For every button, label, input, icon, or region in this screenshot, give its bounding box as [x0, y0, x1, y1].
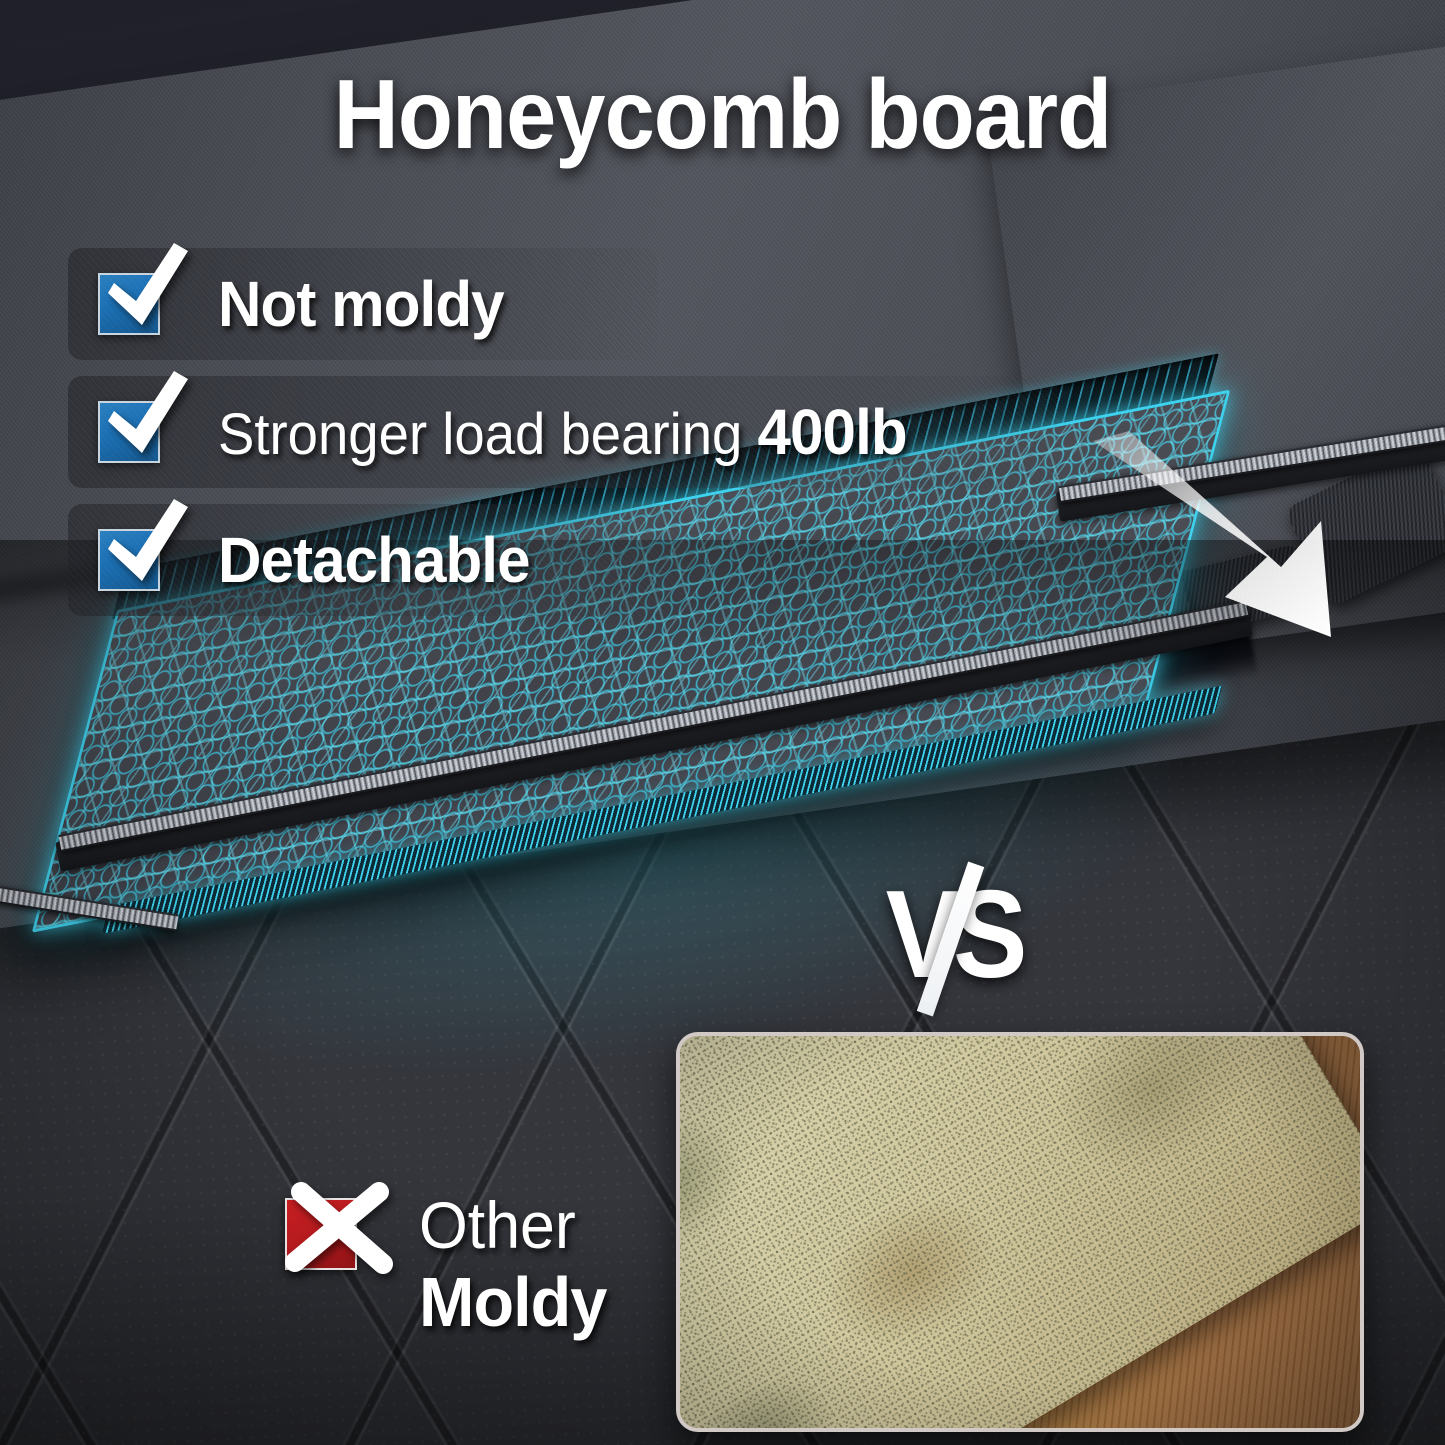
- moldy-board-photo: [676, 1032, 1364, 1432]
- detach-direction-arrow-icon: [1085, 425, 1405, 660]
- negative-text-block: Other Moldy: [419, 1188, 616, 1342]
- feature-row-not-moldy: Not moldy: [68, 248, 658, 360]
- checkbox-checked-icon: [98, 401, 160, 463]
- negative-label-line1: Other: [419, 1188, 606, 1262]
- checkbox-checked-icon: [98, 529, 160, 591]
- cross-icon: [279, 1170, 397, 1288]
- feature-label-load-bearing: Stronger load bearing 400lb: [218, 395, 907, 469]
- feature-label-not-moldy: Not moldy: [218, 267, 504, 341]
- feature-row-detachable: Detachable: [68, 504, 688, 616]
- checkmark-icon: [98, 241, 194, 337]
- feature-row-load-bearing: Stronger load bearing 400lb: [68, 376, 1058, 488]
- negative-label-line2: Moldy: [419, 1262, 606, 1342]
- negative-comparison-label: Other Moldy: [285, 1188, 616, 1342]
- checkbox-checked-icon: [98, 273, 160, 335]
- product-infographic: Honeycomb board Not moldy Stronger load …: [0, 0, 1445, 1445]
- x-mark-icon: [285, 1198, 357, 1270]
- feature-list: Not moldy Stronger load bearing 400lb De…: [68, 248, 1058, 632]
- checkmark-icon: [98, 369, 194, 465]
- feature-label-load-bearing-text: Stronger load bearing: [218, 402, 758, 467]
- checkmark-icon: [98, 497, 194, 593]
- versus-badge: VS: [868, 872, 1038, 1004]
- photo-vignette: [680, 1036, 1360, 1428]
- feature-label-load-bearing-value: 400lb: [758, 396, 907, 468]
- feature-label-detachable: Detachable: [218, 523, 530, 597]
- page-title: Honeycomb board: [58, 58, 1387, 171]
